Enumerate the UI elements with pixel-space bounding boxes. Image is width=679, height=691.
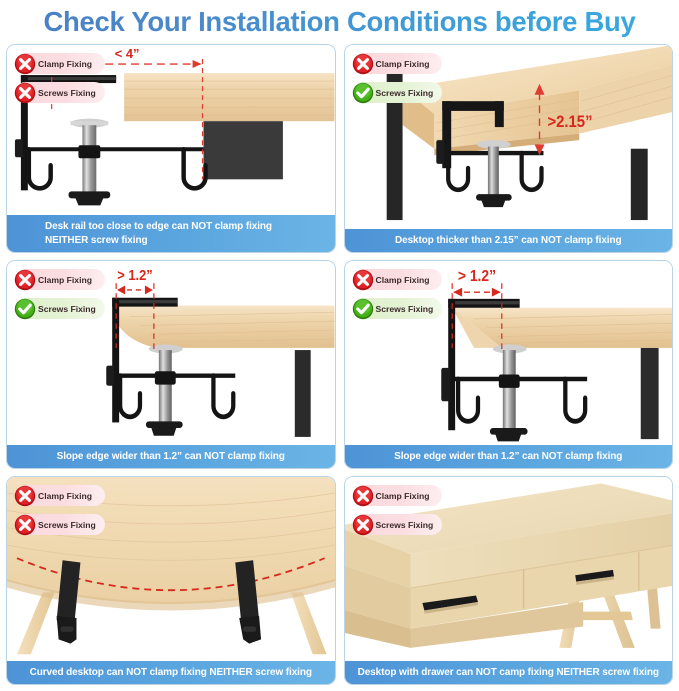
badge-clamp-fixing: Clamp Fixing (15, 485, 105, 506)
badge-group: Clamp Fixing Screws Fixing (353, 485, 443, 535)
badge-group: Clamp Fixing Screws Fixing (15, 269, 105, 319)
panel-desk-rail: < 4” Clamp Fixing (6, 44, 336, 253)
cross-icon (13, 81, 37, 105)
badge-screws-fixing: Screws Fixing (353, 82, 443, 103)
panel-caption: Curved desktop can NOT clamp fixing NEIT… (7, 661, 335, 684)
badge-label: Screws Fixing (38, 520, 96, 530)
badge-clamp-fixing: Clamp Fixing (15, 269, 105, 290)
badge-group: Clamp Fixing Screws Fixing (15, 53, 105, 103)
badge-clamp-fixing: Clamp Fixing (353, 53, 443, 74)
caption-line-1: Desk rail too close to edge can NOT clam… (45, 220, 325, 233)
badge-label: Screws Fixing (376, 520, 434, 530)
badge-clamp-fixing: Clamp Fixing (15, 53, 105, 74)
badge-clamp-fixing: Clamp Fixing (353, 485, 443, 506)
dimension-label-4: > 1.2” (457, 268, 495, 285)
dimension-label-1: < 4” (115, 46, 140, 61)
cross-icon (351, 52, 375, 76)
panel-thick-desktop: >2.15” Clamp Fixing (344, 44, 674, 253)
badge-label: Screws Fixing (38, 304, 96, 314)
panel-slope-edge-right: > 1.2” Clamp Fixing (344, 260, 674, 469)
badge-label: Clamp Fixing (38, 491, 92, 501)
dimension-label-3: > 1.2” (117, 267, 152, 283)
caption-line-2: NEITHER screw fixing (45, 234, 325, 247)
diagram-slope-edge-left: > 1.2” Clamp Fixing (7, 261, 335, 445)
badge-screws-fixing: Screws Fixing (15, 298, 105, 319)
badge-clamp-fixing: Clamp Fixing (353, 269, 443, 290)
badge-screws-fixing: Screws Fixing (353, 514, 443, 535)
panel-slope-edge-left: > 1.2” Clamp Fixing (6, 260, 336, 469)
badge-label: Clamp Fixing (376, 275, 430, 285)
cross-icon (13, 52, 37, 76)
badge-screws-fixing: Screws Fixing (15, 514, 105, 535)
panel-caption: Slope edge wider than 1.2” can NOT clamp… (7, 445, 335, 468)
badge-group: Clamp Fixing Screws Fixing (15, 485, 105, 535)
badge-screws-fixing: Screws Fixing (353, 298, 443, 319)
check-icon (351, 297, 375, 321)
cross-icon (13, 484, 37, 508)
badge-label: Clamp Fixing (376, 491, 430, 501)
badge-group: Clamp Fixing Screws Fixing (353, 269, 443, 319)
dimension-label-2: >2.15” (547, 114, 592, 132)
badge-label: Screws Fixing (38, 88, 96, 98)
panel-caption: Desktop thicker than 2.15” can NOT clamp… (345, 229, 673, 252)
badge-label: Clamp Fixing (38, 59, 92, 69)
cross-icon (13, 268, 37, 292)
check-icon (351, 81, 375, 105)
diagram-desk-rail: < 4” Clamp Fixing (7, 45, 335, 215)
badge-label: Clamp Fixing (376, 59, 430, 69)
cross-icon (13, 513, 37, 537)
diagram-curved-desktop: Clamp Fixing Screws Fixing (7, 477, 335, 661)
panel-curved-desktop: Clamp Fixing Screws Fixing Curved deskto… (6, 476, 336, 685)
diagram-slope-edge-right: > 1.2” Clamp Fixing (345, 261, 673, 445)
panel-caption: Slope edge wider than 1.2” can NOT clamp… (345, 445, 673, 468)
conditions-grid: < 4” Clamp Fixing (0, 44, 679, 691)
badge-label: Clamp Fixing (38, 275, 92, 285)
diagram-thick-desktop: >2.15” Clamp Fixing (345, 45, 673, 229)
page-title: Check Your Installation Conditions befor… (0, 0, 679, 44)
badge-group: Clamp Fixing Screws Fixing (353, 53, 443, 103)
cross-icon (351, 484, 375, 508)
panel-drawer-desktop: Clamp Fixing Screws Fixing Desktop with … (344, 476, 674, 685)
diagram-drawer-desktop: Clamp Fixing Screws Fixing (345, 477, 673, 661)
cross-icon (351, 513, 375, 537)
cross-icon (351, 268, 375, 292)
badge-label: Screws Fixing (376, 304, 434, 314)
badge-label: Screws Fixing (376, 88, 434, 98)
panel-caption: Desk rail too close to edge can NOT clam… (7, 215, 335, 252)
badge-screws-fixing: Screws Fixing (15, 82, 105, 103)
check-icon (13, 297, 37, 321)
panel-caption: Desktop with drawer can NOT camp fixing … (345, 661, 673, 684)
